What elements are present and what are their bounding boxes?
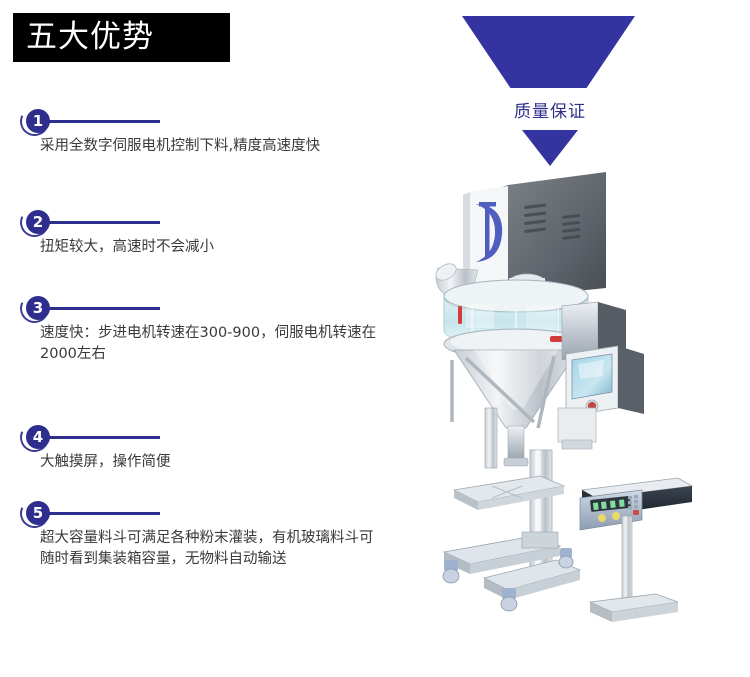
quality-guarantee-label: 质量保证 <box>514 97 586 122</box>
feature-rule-1 <box>44 120 160 123</box>
feature-header-2: 2 <box>0 207 430 239</box>
feature-rule-2 <box>44 221 160 224</box>
feature-header-4: 4 <box>0 422 430 454</box>
weighing-scale[interactable] <box>580 478 692 622</box>
feature-text-3: 速度快：步进电机转速在300-900，伺服电机转速在 2000左右 <box>40 323 420 364</box>
hmi-touch-panel[interactable] <box>566 346 644 416</box>
feature-text-2: 扭矩较大，高速时不会减小 <box>40 237 420 258</box>
feature-rule-3 <box>44 307 160 310</box>
feature-item-4: 4 大触摸屏，操作简便 <box>0 422 430 454</box>
filling-machine-illustration <box>430 160 750 630</box>
feature-header-1: 1 <box>0 106 430 138</box>
machine-photo <box>430 160 750 630</box>
page-title: 五大优势 <box>13 22 154 53</box>
quality-funnel-graphic: 质量保证 <box>455 10 645 175</box>
feature-item-3: 3 速度快：步进电机转速在300-900，伺服电机转速在 2000左右 <box>0 293 430 325</box>
feature-text-4: 大触摸屏，操作简便 <box>40 452 420 473</box>
product-feature-page: 五大优势 1 采用全数字伺服电机控制下料,精度高速度快 2 扭矩较大，高速时不会… <box>0 0 750 677</box>
feature-item-5: 5 超大容量料斗可满足各种粉末灌装，有机玻璃料斗可 随时看到集装箱容量，无物料自… <box>0 498 430 530</box>
feature-rule-5 <box>44 512 160 515</box>
feature-text-1: 采用全数字伺服电机控制下料,精度高速度快 <box>40 136 420 157</box>
feature-header-5: 5 <box>0 498 430 530</box>
feature-rule-4 <box>44 436 160 439</box>
feature-text-5: 超大容量料斗可满足各种粉末灌装，有机玻璃料斗可 随时看到集装箱容量，无物料自动输… <box>40 528 420 569</box>
discharge-box <box>558 408 596 449</box>
page-title-banner: 五大优势 <box>13 13 230 62</box>
feature-header-3: 3 <box>0 293 430 325</box>
funnel-upper-shape <box>462 16 635 88</box>
feature-item-1: 1 采用全数字伺服电机控制下料,精度高速度快 <box>0 106 430 138</box>
funnel-label-band: 质量保证 <box>455 88 645 130</box>
feature-item-2: 2 扭矩较大，高速时不会减小 <box>0 207 430 239</box>
